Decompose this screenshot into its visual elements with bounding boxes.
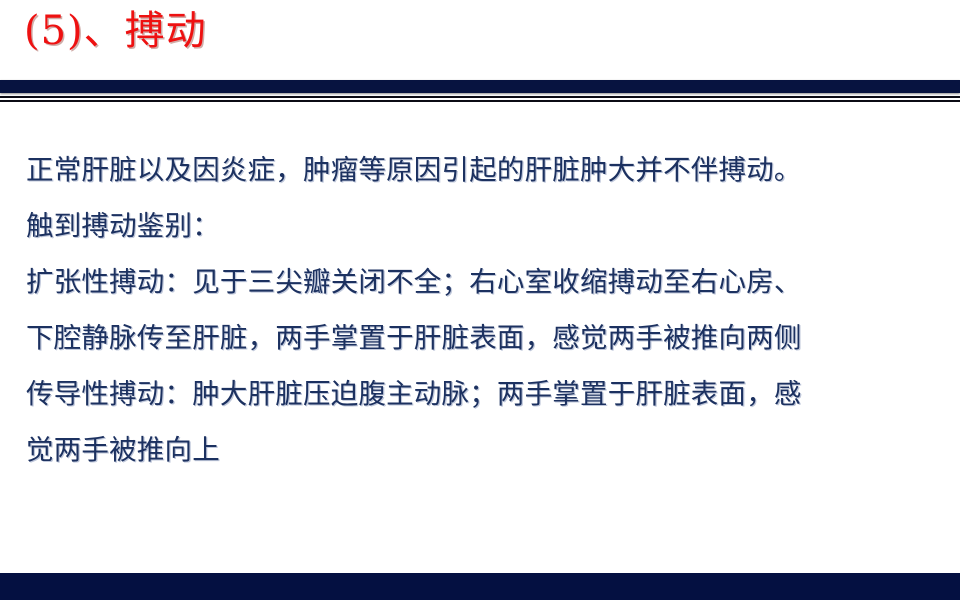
header-divider-line-lower — [0, 100, 960, 102]
header-divider-bar — [0, 80, 960, 93]
slide-title-area: (5)、搏动 — [0, 0, 960, 76]
page-title: (5)、搏动 — [24, 8, 207, 54]
body-line-6: 觉两手被推向上 — [26, 422, 942, 478]
body-text-block: 正常肝脏以及因炎症，肿瘤等原因引起的肝脏肿大并不伴搏动。 触到搏动鉴别： 扩张性… — [26, 142, 942, 478]
body-line-2: 触到搏动鉴别： — [26, 198, 942, 254]
body-line-3: 扩张性搏动：见于三尖瓣关闭不全；右心室收缩搏动至右心房、 — [26, 254, 942, 310]
body-line-4: 下腔静脉传至肝脏，两手掌置于肝脏表面，感觉两手被推向两侧 — [26, 310, 942, 366]
header-divider-line-upper — [0, 96, 960, 98]
footer-bar — [0, 573, 960, 600]
body-line-1: 正常肝脏以及因炎症，肿瘤等原因引起的肝脏肿大并不伴搏动。 — [26, 142, 942, 198]
presentation-slide: (5)、搏动 正常肝脏以及因炎症，肿瘤等原因引起的肝脏肿大并不伴搏动。 触到搏动… — [0, 0, 960, 600]
slide-body-area: 正常肝脏以及因炎症，肿瘤等原因引起的肝脏肿大并不伴搏动。 触到搏动鉴别： 扩张性… — [0, 112, 960, 567]
body-line-5: 传导性搏动：肿大肝脏压迫腹主动脉；两手掌置于肝脏表面，感 — [26, 366, 942, 422]
